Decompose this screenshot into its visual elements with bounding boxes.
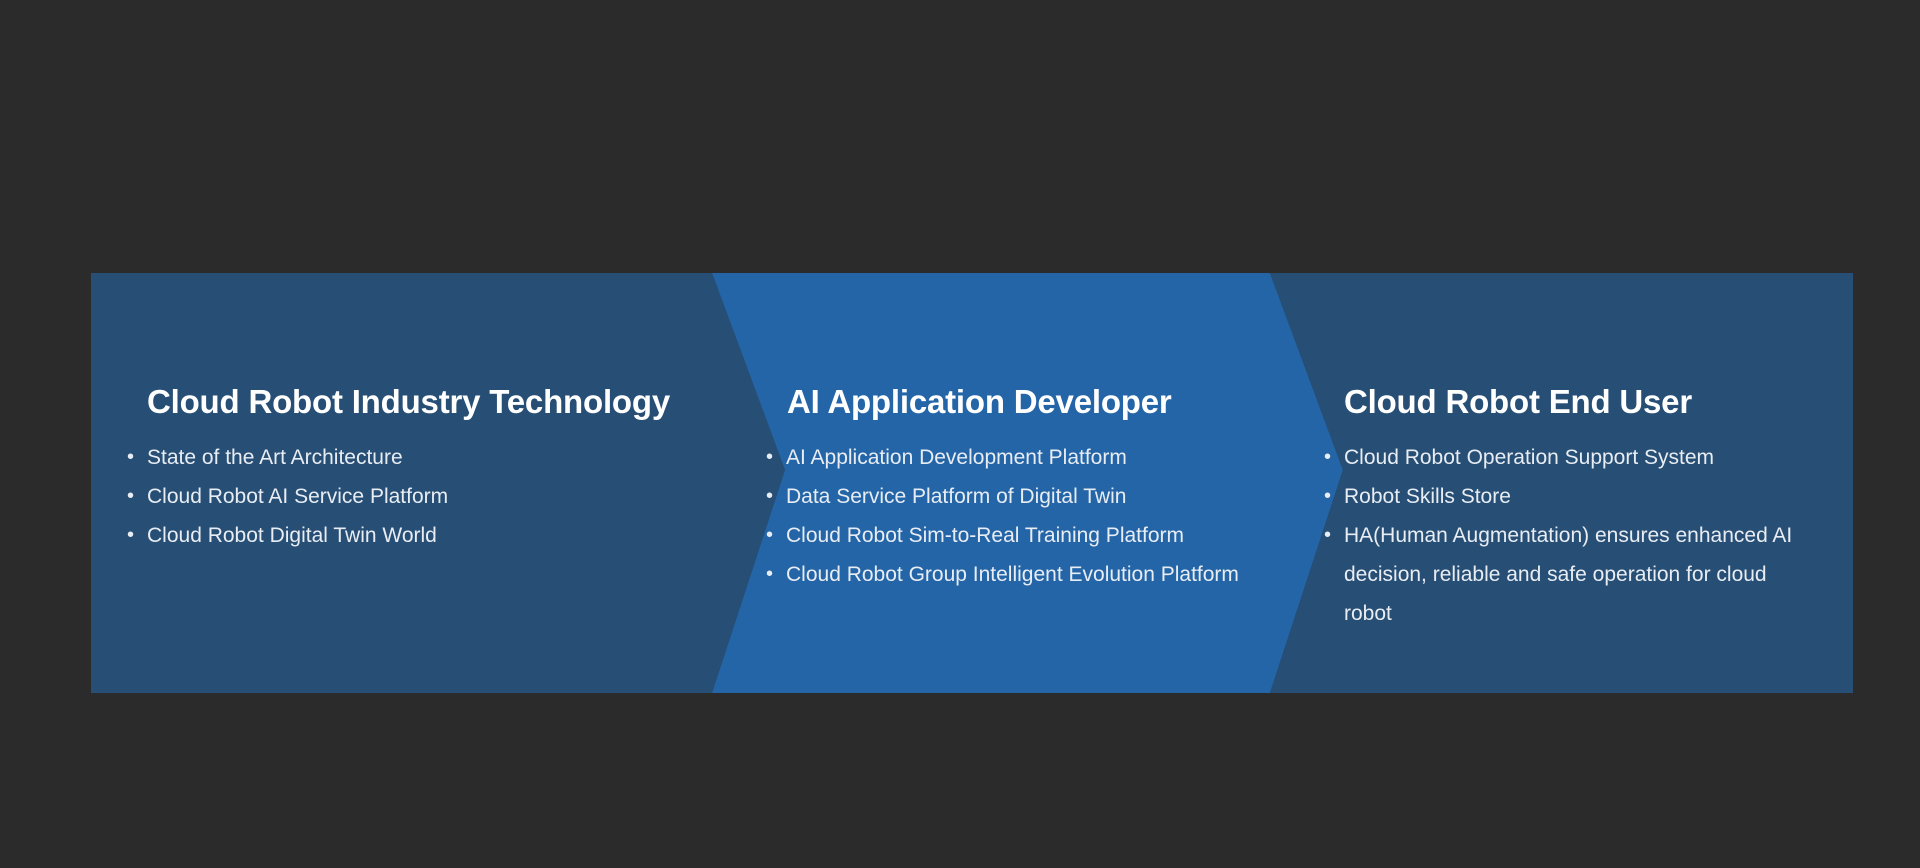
list-item: Cloud Robot Sim-to-Real Training Platfor… xyxy=(766,516,1239,555)
column-title-industry-technology: Cloud Robot Industry Technology xyxy=(147,383,751,421)
column-cloud-robot-end-user[interactable]: Cloud Robot End User Cloud Robot Operati… xyxy=(1311,273,1853,693)
list-item: Data Service Platform of Digital Twin xyxy=(766,477,1239,516)
bullet-list-ai-application-developer: AI Application Development Platform Data… xyxy=(766,438,1239,594)
bullet-list-end-user: Cloud Robot Operation Support System Rob… xyxy=(1324,438,1824,633)
column-title-ai-application-developer: AI Application Developer xyxy=(787,383,1311,421)
list-item: HA(Human Augmentation) ensures enhanced … xyxy=(1324,516,1804,633)
list-item: State of the Art Architecture xyxy=(127,438,448,477)
list-item: Cloud Robot Digital Twin World xyxy=(127,516,448,555)
column-ai-application-developer[interactable]: AI Application Developer AI Application … xyxy=(751,273,1311,693)
column-cloud-robot-industry-technology[interactable]: Cloud Robot Industry Technology State of… xyxy=(91,273,751,693)
bullet-list-industry-technology: State of the Art Architecture Cloud Robo… xyxy=(127,438,448,555)
slide-canvas: Cloud Robot Industry Technology State of… xyxy=(0,0,1920,868)
value-chain-banner: Cloud Robot Industry Technology State of… xyxy=(91,273,1853,693)
list-item: Robot Skills Store xyxy=(1324,477,1824,516)
column-title-end-user: Cloud Robot End User xyxy=(1344,383,1853,421)
list-item: AI Application Development Platform xyxy=(766,438,1239,477)
list-item: Cloud Robot AI Service Platform xyxy=(127,477,448,516)
list-item: Cloud Robot Group Intelligent Evolution … xyxy=(766,555,1239,594)
list-item: Cloud Robot Operation Support System xyxy=(1324,438,1824,477)
